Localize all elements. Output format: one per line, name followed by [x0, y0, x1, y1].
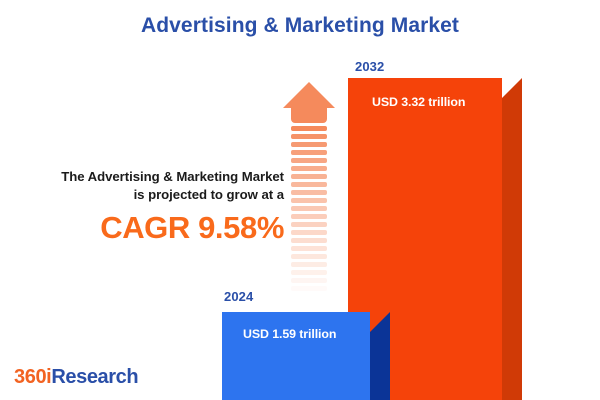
arrow-stripe [291, 158, 327, 163]
logo-part-1: 360i [14, 366, 51, 388]
arrow-stripe [291, 206, 327, 211]
growth-arrow-icon [283, 82, 335, 297]
arrow-stripe [291, 222, 327, 227]
arrow-head-icon [283, 82, 335, 108]
bar-2032-year-label: 2032 [355, 59, 384, 74]
arrow-stripe [291, 214, 327, 219]
bar-2024-front [222, 312, 370, 400]
bar-2024-value-label: USD 1.59 trillion [243, 327, 336, 341]
arrow-stripe [291, 134, 327, 139]
arrow-stripe [291, 286, 327, 291]
arrow-stripe [291, 126, 327, 131]
arrow-stripe [291, 198, 327, 203]
arrow-stripe [291, 190, 327, 195]
arrow-stripe [291, 270, 327, 275]
cagr-value: CAGR 9.58% [8, 210, 284, 246]
arrow-stripe [291, 142, 327, 147]
bar-2032-side [502, 78, 522, 400]
arrow-stripe [291, 174, 327, 179]
arrow-stripe [291, 238, 327, 243]
arrow-stripe [291, 262, 327, 267]
page-title: Advertising & Marketing Market [0, 14, 600, 38]
arrow-stripe [291, 254, 327, 259]
statement-line-2: is projected to grow at a [8, 186, 284, 204]
bar-2032-value-label: USD 3.32 trillion [372, 95, 465, 109]
arrow-stripe [291, 246, 327, 251]
arrow-stripe [291, 150, 327, 155]
brand-logo: 360iResearch [14, 366, 138, 389]
arrow-stripe [291, 278, 327, 283]
arrow-neck [291, 107, 327, 123]
cagr-statement: The Advertising & Marketing Market is pr… [8, 168, 284, 246]
arrow-stripes [291, 126, 327, 296]
bar-2024-year-label: 2024 [224, 289, 253, 304]
logo-part-2: Research [51, 366, 138, 388]
infographic-canvas: Advertising & Marketing Market The Adver… [0, 0, 600, 400]
arrow-stripe [291, 230, 327, 235]
statement-line-1: The Advertising & Marketing Market [8, 168, 284, 186]
bar-2024 [222, 312, 370, 400]
arrow-stripe [291, 294, 327, 299]
arrow-stripe [291, 166, 327, 171]
arrow-stripe [291, 182, 327, 187]
